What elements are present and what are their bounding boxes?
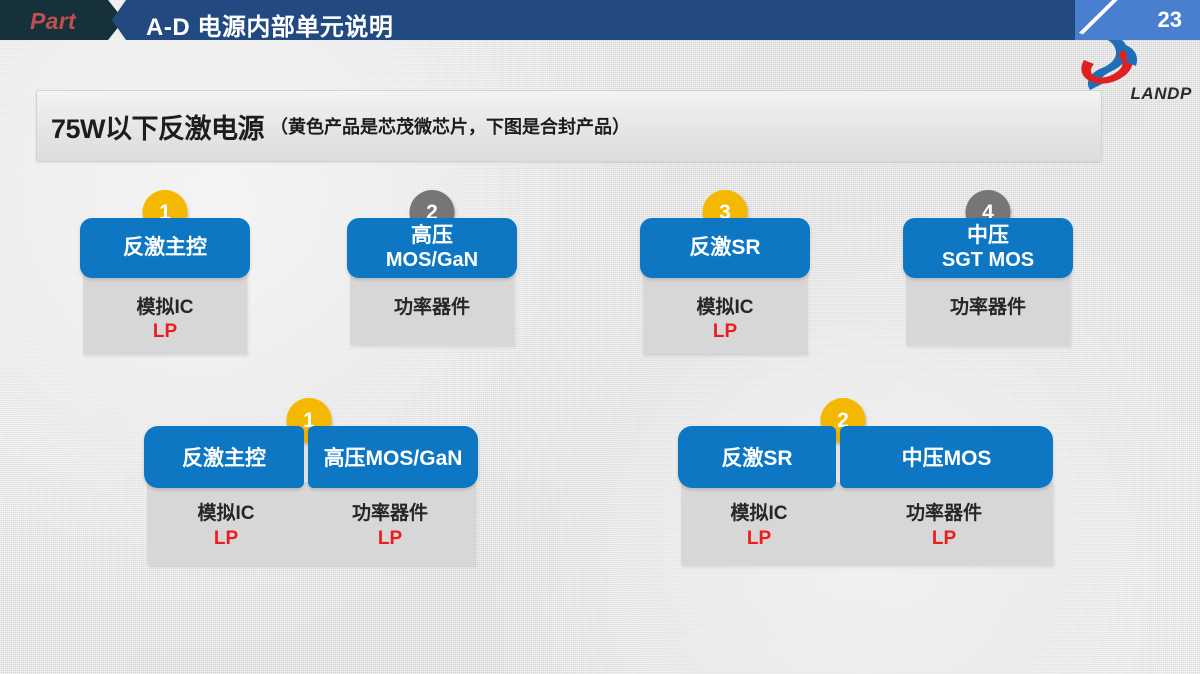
combo-card-2-left-title-box[interactable]: 反激SR — [678, 426, 836, 488]
combo-card-1-right-category: 功率器件 — [352, 502, 428, 527]
combo-card-1-left-title: 反激主控 — [182, 442, 266, 472]
combo-card-2-left-lp-tag: LP — [747, 527, 771, 552]
landp-logo: LANDP — [1062, 34, 1198, 106]
combo-card-1-left-title-box[interactable]: 反激主控 — [144, 426, 304, 488]
unit-card-1-category: 模拟IC — [136, 296, 193, 320]
combo-card-1-right-title-box[interactable]: 高压MOS/GaN — [308, 426, 478, 488]
slide-header: Part A-D 电源内部单元说明 23 — [0, 0, 1200, 40]
combo-card-2-info-box: 模拟IC LP 功率器件 LP — [681, 482, 1053, 565]
unit-card-4-title-box[interactable]: 中压 SGT MOS — [903, 218, 1073, 278]
unit-card-4-title-line2: SGT MOS — [942, 249, 1034, 272]
unit-card-2-title-box[interactable]: 高压 MOS/GaN — [347, 218, 517, 278]
unit-card-1-info-box: 模拟IC LP — [83, 270, 247, 354]
combo-card-1-info-box: 模拟IC LP 功率器件 LP — [147, 482, 475, 565]
unit-card-2-title-line1: 高压 — [411, 224, 453, 248]
combo-card-1-right-info: 功率器件 LP — [305, 502, 475, 551]
unit-card-4-info-box: 功率器件 — [906, 270, 1070, 345]
combo-card-2-left-title: 反激SR — [721, 442, 792, 472]
unit-card-1-title-line1: 反激主控 — [123, 236, 207, 260]
unit-card-4-title-line1: 中压 — [967, 224, 1009, 248]
combo-card-2-right-info: 功率器件 LP — [837, 502, 1051, 551]
combo-card-1-left-lp-tag: LP — [214, 527, 238, 552]
combo-card-1-title-row: 反激主控 高压MOS/GaN — [144, 426, 478, 488]
subtitle-main-text: 75W以下反激电源 — [51, 107, 264, 146]
page-title: A-D 电源内部单元说明 — [146, 7, 393, 42]
combo-card-2-left-info: 模拟IC LP — [681, 502, 837, 551]
unit-card-3-category: 模拟IC — [696, 296, 753, 320]
combo-card-2-right-title-box[interactable]: 中压MOS — [840, 426, 1053, 488]
combo-card-2-right-lp-tag: LP — [932, 527, 956, 552]
combo-card-1-right-lp-tag: LP — [378, 527, 402, 552]
combo-card-2-right-category: 功率器件 — [906, 502, 982, 527]
unit-card-1-title-box[interactable]: 反激主控 — [80, 218, 250, 278]
unit-card-2-title-line2: MOS/GaN — [386, 249, 478, 272]
combo-card-1-left-info: 模拟IC LP — [147, 502, 305, 551]
unit-card-2-category: 功率器件 — [394, 296, 470, 320]
unit-card-3-title-box[interactable]: 反激SR — [640, 218, 810, 278]
unit-card-1-lp-tag: LP — [153, 320, 177, 344]
unit-card-2-info-box: 功率器件 — [350, 270, 514, 345]
combo-card-2-right-title: 中压MOS — [902, 442, 992, 472]
page-number: 23 — [1158, 7, 1182, 33]
part-label: Part — [30, 8, 76, 35]
logo-wordmark: LANDP — [1130, 84, 1192, 104]
section-subtitle-band: 75W以下反激电源 （黄色产品是芯茂微芯片，下图是合封产品） — [36, 90, 1102, 162]
subtitle-note-text: （黄色产品是芯茂微芯片，下图是合封产品） — [270, 113, 630, 139]
unit-card-3-info-box: 模拟IC LP — [643, 270, 807, 354]
unit-card-3-title-line1: 反激SR — [689, 236, 760, 260]
combo-card-1-left-category: 模拟IC — [197, 502, 254, 527]
combo-card-2-left-category: 模拟IC — [730, 502, 787, 527]
unit-card-3-lp-tag: LP — [713, 320, 737, 344]
combo-card-1-right-title: 高压MOS/GaN — [324, 442, 463, 472]
unit-card-4-category: 功率器件 — [950, 296, 1026, 320]
slide-canvas: Part A-D 电源内部单元说明 23 LANDP 75W以下反激电源 （黄色… — [0, 0, 1200, 674]
combo-card-2-title-row: 反激SR 中压MOS — [678, 426, 1053, 488]
